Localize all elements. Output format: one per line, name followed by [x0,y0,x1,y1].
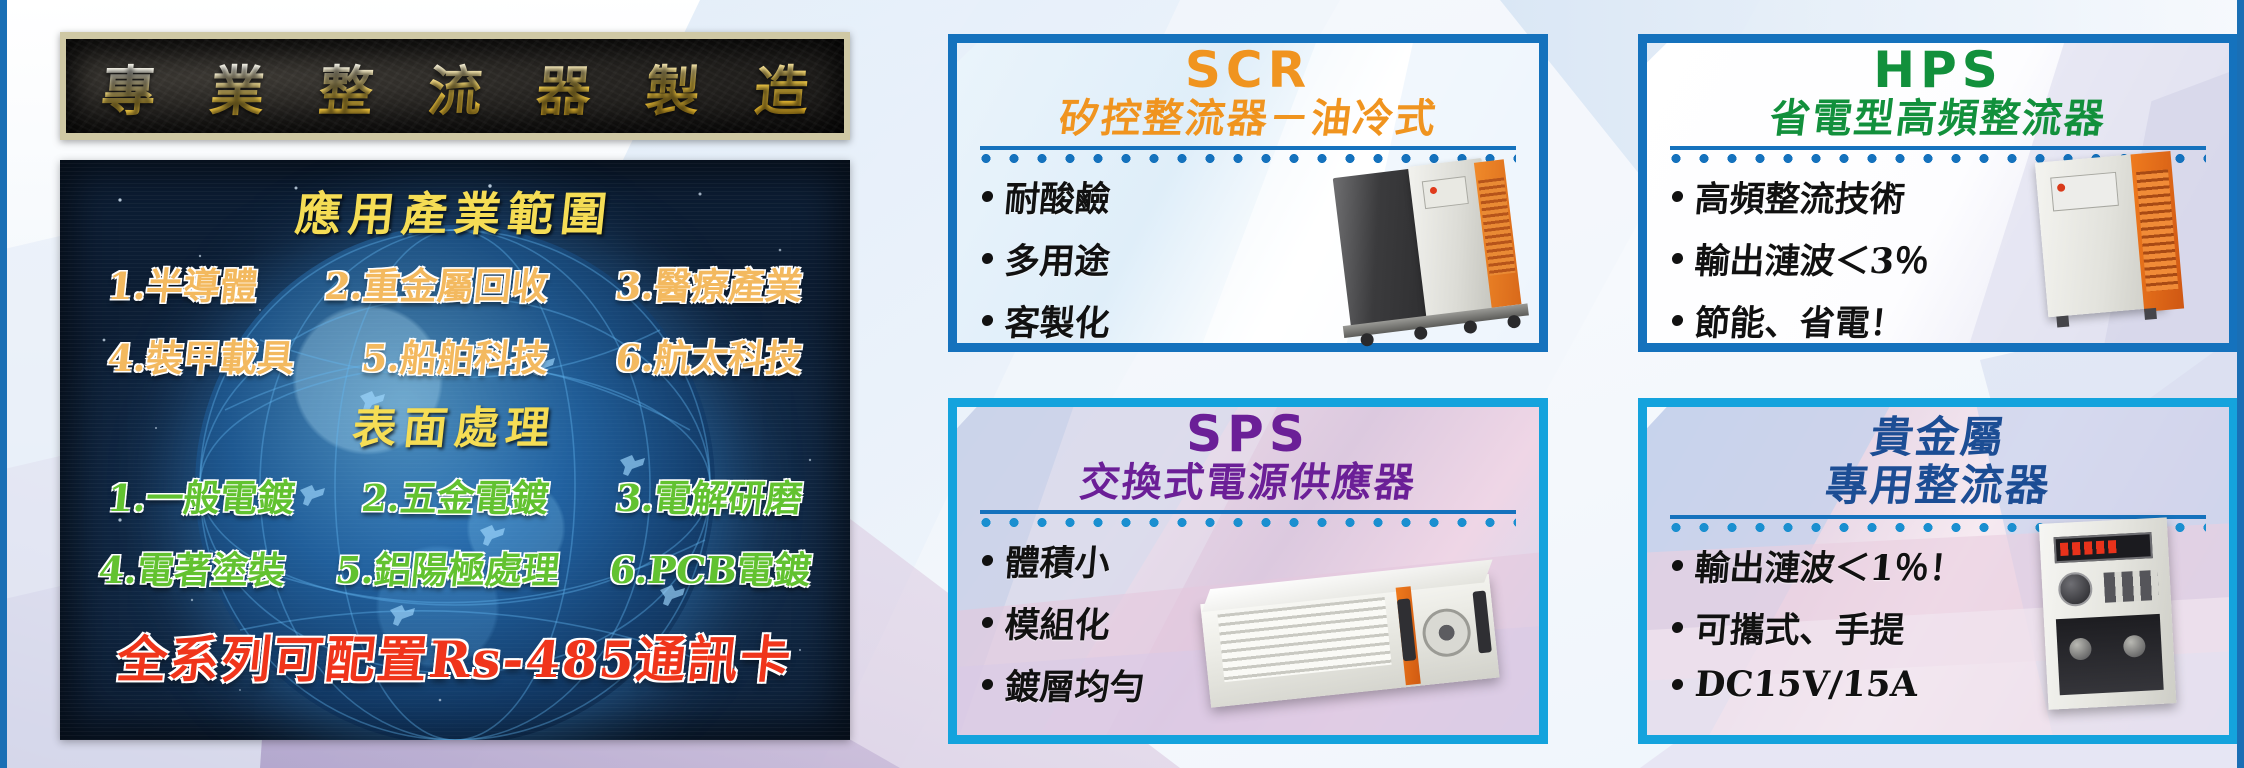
card-title-scr: SCR [966,44,1530,97]
left-edge-rail [0,0,7,768]
product-card-precious-metal[interactable]: 貴金屬 專用整流器 輸出漣波＜1％！ 可攜式、手提 DC15V/15A [1638,398,2238,744]
feature-label: 體積小 [1003,535,1112,586]
industry-row-1: 1.半導體 2.重金屬回收 3.醫療產業 [60,256,850,310]
card-subtitle-scr: 矽控整流器－油冷式 [963,97,1533,142]
surface-item: 3.電解研磨 [613,468,805,522]
feature-label: 鍍層均勻 [1003,659,1147,710]
feature-label: 耐酸鹼 [1003,171,1112,222]
left-column: 專 業 整 流 器 製 造 [48,0,878,768]
product-photo-scr-cabinet [1324,150,1534,347]
product-card-hps[interactable]: HPS 省電型高頻整流器 高頻整流技術 輸出漣波＜3％ 節能、省電！ [1638,34,2238,352]
card-subtitle-hps: 省電型高頻整流器 [1653,97,2223,142]
industry-item: 3.醫療產業 [613,256,805,310]
feature-label: 輸出漣波＜1％！ [1693,540,1967,591]
feature-label: 輸出漣波＜3％ [1693,233,1932,284]
bullet-dot-icon [1672,622,1684,633]
card-title-hps: HPS [1656,44,2220,97]
title-plaque-stone: 專 業 整 流 器 製 造 [66,39,844,133]
surface-item: 4.電著塗裝 [96,540,288,594]
feature-label: DC15V/15A [1693,664,1919,705]
card-title-sps: SPS [966,408,1530,461]
page-title: 專 業 整 流 器 製 造 [80,47,830,126]
divider-dots [980,518,1516,527]
product-photo-portable-rectifier [2039,516,2199,724]
applications-board: 應用產業範圍 1.半導體 2.重金屬回收 3.醫療產業 4.裝甲載具 5.船舶科… [60,160,850,740]
bullet-dot-icon [1672,679,1684,690]
applications-heading: 應用產業範圍 [60,178,850,244]
industry-item: 5.船舶科技 [359,328,551,382]
feature-label: 節能、省電！ [1693,295,1907,346]
rs485-banner: 全系列可配置Rs-485通訊卡 [60,620,850,692]
surface-treatment-heading: 表面處理 [60,392,850,456]
surface-item: 1.一般電鍍 [105,468,297,522]
bullet-dot-icon [982,191,994,202]
surface-item: 2.五金電鍍 [359,468,551,522]
divider-bar [980,510,1516,514]
feature-label: 可攜式、手提 [1693,602,1907,653]
title-plaque: 專 業 整 流 器 製 造 [60,32,850,140]
bullet-dot-icon [1672,315,1684,326]
feature-label: 模組化 [1003,597,1112,648]
product-card-grid: SCR 矽控整流器－油冷式 耐酸鹼 多用途 客製化 [948,0,2238,768]
bullet-dot-icon [982,679,994,690]
surface-row-1: 1.一般電鍍 2.五金電鍍 3.電解研磨 [60,468,850,522]
bullet-dot-icon [1672,560,1684,571]
surface-row-2: 4.電著塗裝 5.鋁陽極處理 6.PCB電鍍 [60,540,850,594]
card-subtitle-sps: 交換式電源供應器 [963,461,1533,506]
product-card-scr[interactable]: SCR 矽控整流器－油冷式 耐酸鹼 多用途 客製化 [948,34,1548,352]
feature-label: 客製化 [1003,295,1112,346]
surface-item: 5.鋁陽極處理 [333,540,562,594]
bullet-dot-icon [1672,191,1684,202]
product-card-sps[interactable]: SPS 交換式電源供應器 體積小 模組化 鍍層均勻 [948,398,1548,744]
industry-row-2: 4.裝甲載具 5.船舶科技 6.航太科技 [60,328,850,382]
surface-item: 6.PCB電鍍 [607,540,814,594]
divider-bar [1670,146,2206,150]
bullet-dot-icon [982,617,994,628]
industry-item: 4.裝甲載具 [105,328,297,382]
industry-item: 1.半導體 [105,256,260,310]
card-subtitle-precious-metal: 專用整流器 [1653,462,2223,510]
feature-label: 高頻整流技術 [1693,171,1907,222]
bullet-dot-icon [982,253,994,264]
right-edge-rail [2237,0,2244,768]
card-title-precious-metal: 貴金屬 [1653,414,2223,462]
industry-item: 6.航太科技 [613,328,805,382]
feature-label: 多用途 [1003,233,1112,284]
bullet-dot-icon [982,315,994,326]
bullet-dot-icon [982,555,994,566]
divider-bar [980,146,1516,150]
card-divider [980,510,1516,527]
industry-item: 2.重金屬回收 [322,256,551,310]
bullet-dot-icon [1672,253,1684,264]
product-photo-hps-cabinet [2035,150,2199,332]
